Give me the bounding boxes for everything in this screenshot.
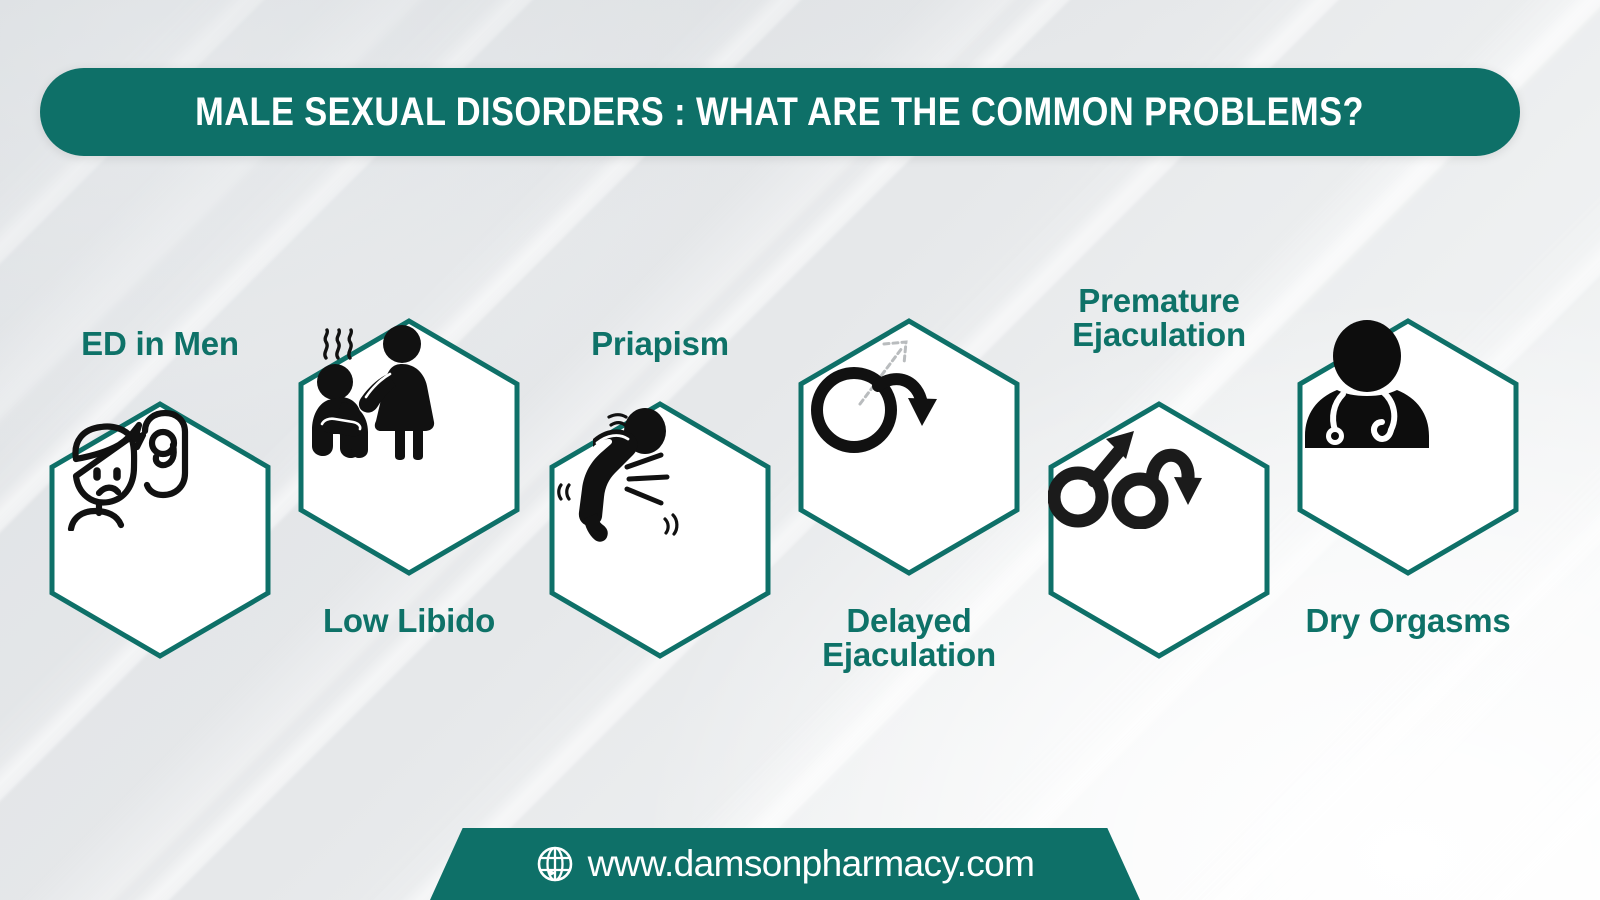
hexagon-dry-orgasms	[1297, 318, 1519, 576]
footer-bar: www.damsonpharmacy.com	[430, 828, 1140, 900]
disorder-card-ed-in-men[interactable]: ED in Men	[49, 401, 271, 659]
hexagon-premature-ejaculation	[1048, 401, 1270, 659]
disorder-label-priapism: Priapism	[500, 327, 820, 361]
doctor-stethoscope-icon	[1297, 318, 1519, 576]
disorder-card-priapism[interactable]: Priapism	[549, 401, 771, 659]
two-male-symbols-icon	[1048, 401, 1270, 659]
disorder-label-premature-ejaculation: Premature Ejaculation	[999, 284, 1319, 353]
hexagon-ed-in-men	[49, 401, 271, 659]
disorder-card-dry-orgasms[interactable]: Dry Orgasms	[1297, 318, 1519, 576]
disorder-card-premature-ejaculation[interactable]: Premature Ejaculation	[1048, 401, 1270, 659]
website-url[interactable]: www.damsonpharmacy.com	[588, 843, 1035, 885]
disorder-label-dry-orgasms: Dry Orgasms	[1248, 604, 1568, 638]
disorder-card-low-libido[interactable]: Low Libido	[298, 318, 520, 576]
sad-man-deflated-icon	[49, 401, 271, 659]
comforting-couple-icon	[298, 318, 520, 576]
hexagon-delayed-ejaculation	[798, 318, 1020, 576]
disorder-card-delayed-ejaculation[interactable]: Delayed Ejaculation	[798, 318, 1020, 576]
hexagon-priapism	[549, 401, 771, 659]
globe-icon	[536, 845, 574, 883]
man-in-pain-icon	[549, 401, 771, 659]
disorder-label-ed-in-men: ED in Men	[0, 327, 320, 361]
disorder-label-delayed-ejaculation: Delayed Ejaculation	[749, 604, 1069, 673]
hexagon-low-libido	[298, 318, 520, 576]
disorders-hex-row: ED in Men	[0, 0, 1600, 900]
disorder-label-low-libido: Low Libido	[249, 604, 569, 638]
male-symbol-down-arrow-icon	[798, 318, 1020, 576]
